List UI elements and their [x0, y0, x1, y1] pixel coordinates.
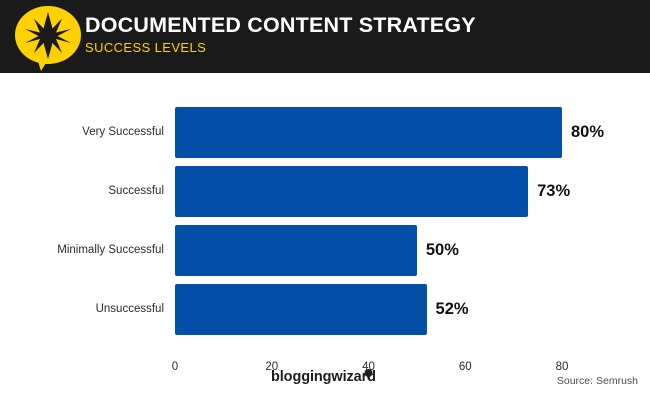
bar: [175, 225, 417, 276]
bar: [175, 284, 427, 335]
value-label: 80%: [571, 107, 604, 158]
plot-area: Very Successful80%Successful73%Minimally…: [175, 107, 562, 358]
bar: [175, 107, 562, 158]
x-tick-label: 60: [459, 361, 472, 373]
value-label: 52%: [436, 284, 469, 335]
bar-row: Minimally Successful50%: [175, 225, 562, 276]
bar: [175, 166, 528, 217]
category-label: Minimally Successful: [57, 225, 164, 276]
bubble-dot-icon: [364, 367, 373, 378]
header-banner: DOCUMENTED CONTENT STRATEGY SUCCESS LEVE…: [0, 0, 650, 73]
page-title: DOCUMENTED CONTENT STRATEGY: [85, 12, 476, 38]
x-tick-label: 80: [556, 361, 569, 373]
value-label: 50%: [426, 225, 459, 276]
category-label: Very Successful: [82, 107, 164, 158]
bar-row: Successful73%: [175, 166, 562, 217]
header-text-block: DOCUMENTED CONTENT STRATEGY SUCCESS LEVE…: [85, 12, 476, 57]
x-tick-label: 0: [172, 361, 178, 373]
bar-row: Very Successful80%: [175, 107, 562, 158]
speech-bubble-star-logo: [12, 5, 84, 71]
bar-chart: Very Successful80%Successful73%Minimally…: [0, 73, 650, 400]
category-label: Successful: [108, 166, 164, 217]
source-credit: Source: Semrush: [557, 375, 638, 387]
page-subtitle: SUCCESS LEVELS: [85, 39, 476, 57]
bar-row: Unsuccessful52%: [175, 284, 562, 335]
bloggingwizard-brand: bloggingwizard: [271, 369, 376, 385]
value-label: 73%: [537, 166, 570, 217]
category-label: Unsuccessful: [96, 284, 164, 335]
